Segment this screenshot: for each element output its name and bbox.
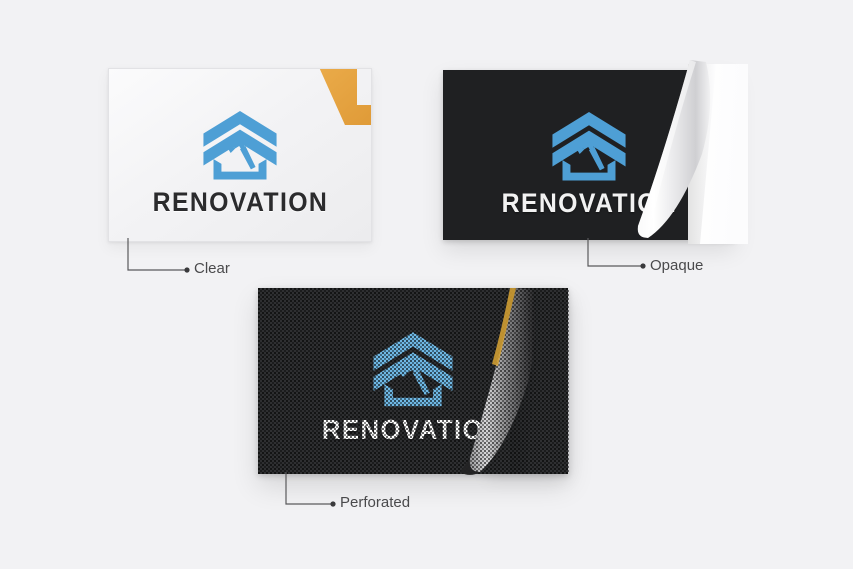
callout-label-opaque: Opaque (650, 257, 703, 274)
card-clear-surface: RENOVATION (109, 69, 371, 241)
callout-label-perforated: Perforated (340, 494, 410, 511)
callout-opaque: Opaque (586, 238, 652, 276)
house-hammer-logo-icon (550, 112, 628, 182)
peel-opaque-icon (630, 58, 755, 258)
callout-perforated: Perforated (284, 472, 344, 512)
house-hammer-logo-icon (201, 111, 279, 181)
brand-lockup-clear: RENOVATION (109, 111, 371, 218)
house-hammer-logo-icon (371, 332, 455, 408)
callout-label-clear: Clear (194, 260, 230, 277)
wordmark-clear: RENOVATION (152, 187, 328, 218)
mockup-stage: RENOVATION (0, 0, 853, 569)
peel-perforated-icon (448, 286, 568, 486)
callout-clear: Clear (126, 238, 196, 278)
card-clear[interactable]: RENOVATION (108, 68, 372, 242)
